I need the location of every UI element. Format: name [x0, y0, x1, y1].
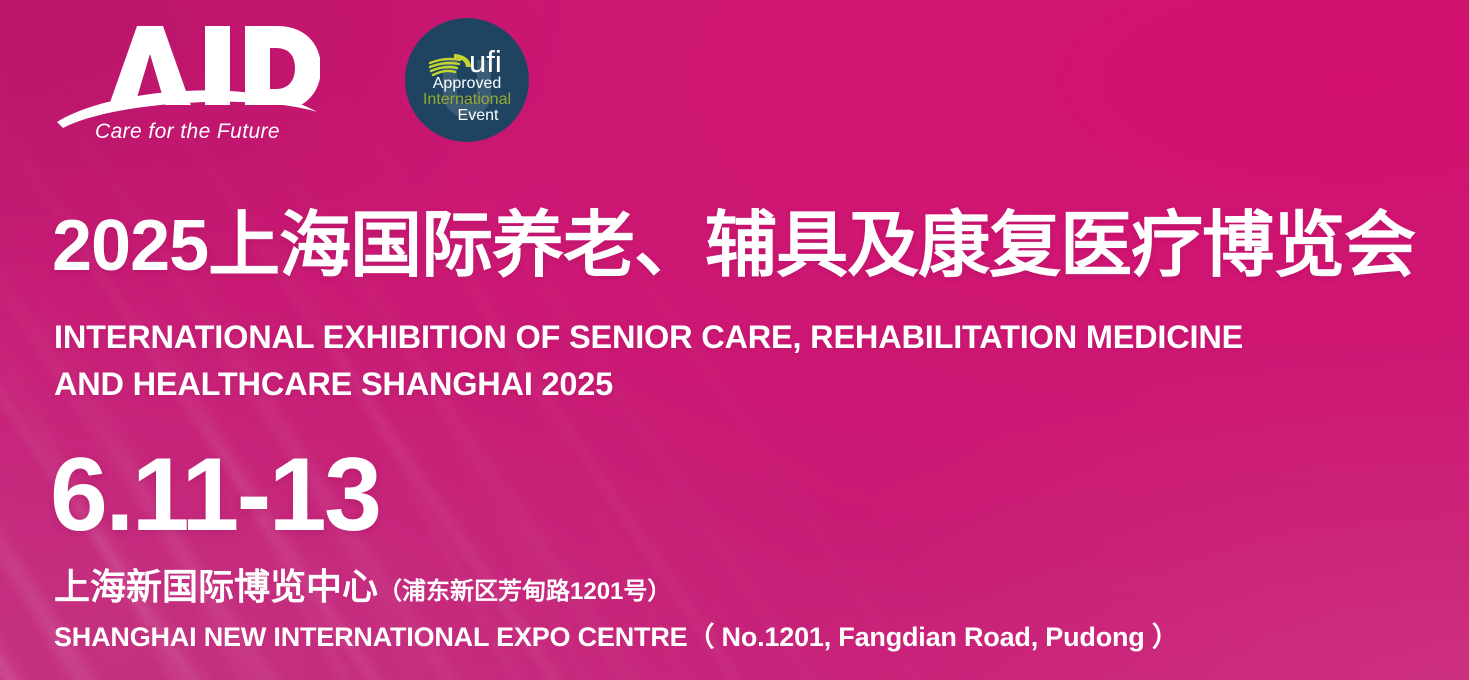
event-title-english-line1: INTERNATIONAL EXHIBITION OF SENIOR CARE,… — [54, 314, 1243, 361]
venue-chinese: 上海新国际博览中心（浦东新区芳甸路1201号） — [54, 566, 671, 616]
event-title-chinese: 2025上海国际养老、辅具及康复医疗博览会 — [52, 206, 1415, 286]
event-banner: Care for the Future ufi Approved — [0, 0, 1469, 680]
event-title-english-line2: AND HEALTHCARE SHANGHAI 2025 — [54, 361, 1243, 408]
venue-english-name: SHANGHAI NEW INTERNATIONAL EXPO CENTRE — [54, 622, 687, 652]
venue-english-address: （ No.1201, Fangdian Road, Pudong ） — [687, 622, 1178, 652]
event-date: 6.11-13 — [50, 443, 380, 547]
venue-chinese-name: 上海新国际博览中心 — [54, 566, 378, 607]
venue-chinese-address: （浦东新区芳甸路1201号） — [378, 578, 671, 605]
banner-content: 2025上海国际养老、辅具及康复医疗博览会 INTERNATIONAL EXHI… — [0, 0, 1469, 680]
venue-english: SHANGHAI NEW INTERNATIONAL EXPO CENTRE（ … — [54, 619, 1179, 655]
event-title-english: INTERNATIONAL EXHIBITION OF SENIOR CARE,… — [54, 314, 1243, 408]
